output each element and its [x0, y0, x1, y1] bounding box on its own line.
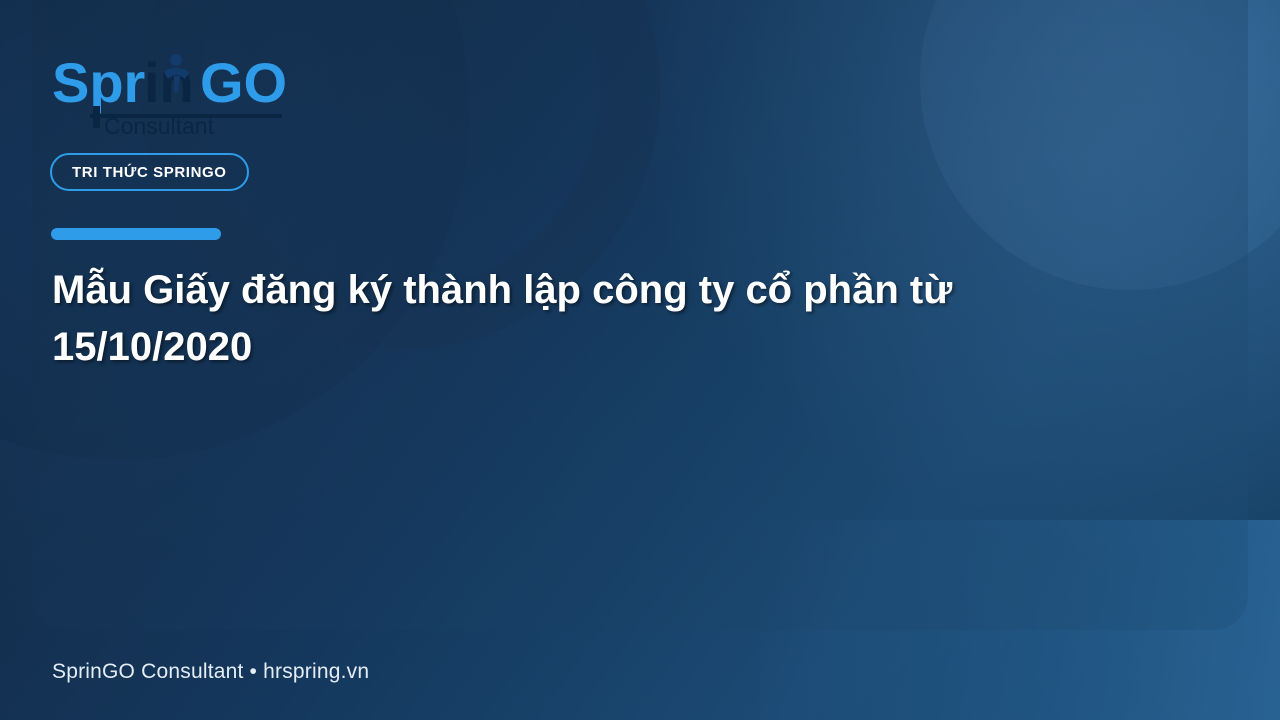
svg-text:Spr: Spr	[52, 51, 145, 114]
knowledge-badge: TRI THỨC SPRINGO	[50, 153, 249, 191]
footer-text: SprinGO Consultant • hrspring.vn	[52, 660, 369, 684]
page-title: Mẫu Giấy đăng ký thành lập công ty cổ ph…	[52, 262, 1162, 376]
springo-logo: Spr in GO Consultant	[52, 50, 312, 142]
knowledge-badge-label: TRI THỨC SPRINGO	[72, 164, 227, 181]
svg-text:Consultant: Consultant	[104, 113, 215, 139]
accent-bar	[51, 228, 221, 240]
svg-text:in: in	[144, 51, 194, 114]
slide-root: Spr in GO Consultant TRI THỨC SPRINGO Mẫ…	[0, 0, 1280, 720]
svg-text:GO: GO	[200, 51, 287, 114]
